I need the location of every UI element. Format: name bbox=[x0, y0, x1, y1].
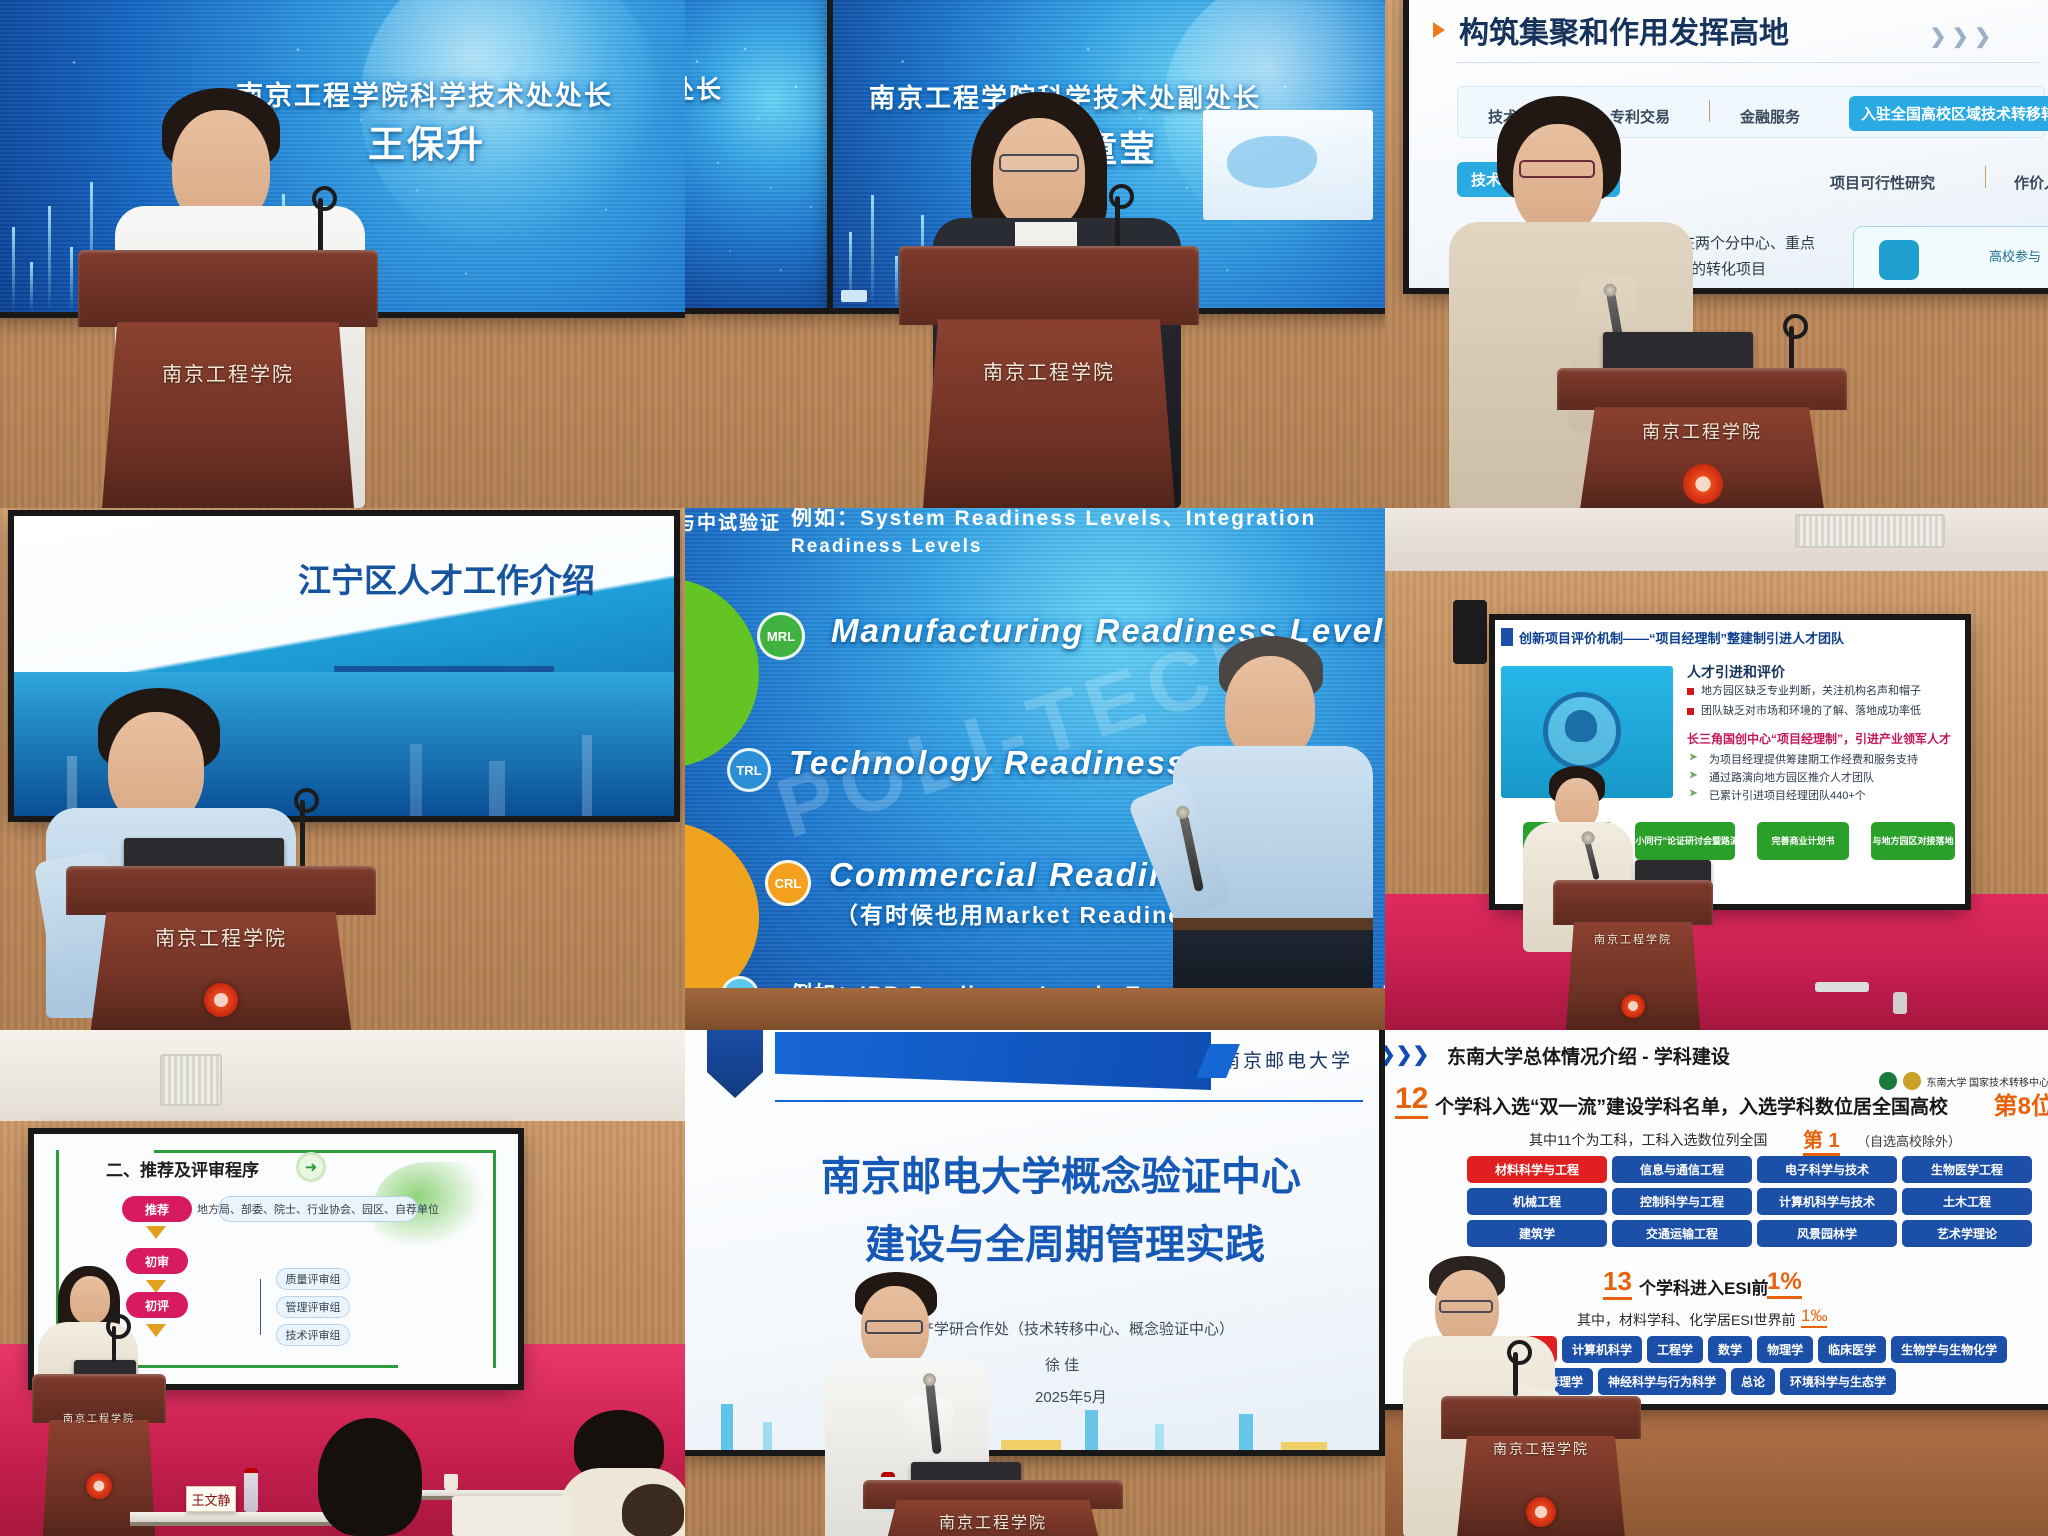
photo-panel-project-manager-system: 创新项目评价机制——“项目经理制”整建制引进人才团队 人才引进和评价 地方园区缺… bbox=[1385, 508, 2048, 1030]
podium: 南京工程学院 bbox=[78, 250, 378, 508]
photo-panel-seu-discipline-building: ❯❯❯ 东南大学总体情况介绍 - 学科建设 东南大学 国家技术转移中心 12 个… bbox=[1385, 1030, 2048, 1536]
ceiling bbox=[1385, 508, 2048, 571]
stat2-pct: 1% bbox=[1767, 1268, 1802, 1299]
slide-heading: 东南大学总体情况介绍 - 学科建设 bbox=[1447, 1042, 1730, 1069]
esi-chip: 环境科学与生态学 bbox=[1780, 1368, 1896, 1395]
photo-panel-slide-cluster-highland: 构筑集聚和作用发挥高地 ❯ ❯ ❯ 技术评价 专利交易 金融服务 入驻全国高校区… bbox=[1385, 0, 2048, 508]
slide-presenter: 徐 佳 bbox=[1045, 1354, 1079, 1375]
review-group-quality: 质量评审组 bbox=[276, 1268, 350, 1290]
discipline-chip: 电子科学与技术 bbox=[1757, 1156, 1897, 1183]
slide-redline: 长三角国创中心“项目经理制”，引进产业领军人才 bbox=[1687, 730, 1951, 747]
esi-chip: 计算机科学 bbox=[1562, 1336, 1642, 1363]
sub1-b: （自选高校除外） bbox=[1857, 1131, 1961, 1150]
stat2-text: 个学科进入ESI前 bbox=[1639, 1274, 1768, 1299]
heading-marker bbox=[1501, 628, 1513, 646]
discipline-chip: 风景园林学 bbox=[1757, 1220, 1897, 1247]
discipline-grid: 材料科学与工程 信息与通信工程 电子科学与技术 生物医学工程 机械工程 控制科学… bbox=[1467, 1156, 2032, 1247]
photo-panel-jiangning-talent-intro: 江宁区人才工作介绍 中共南京市江宁区委组织部 南京工程学院 bbox=[0, 508, 685, 1030]
stat2-number: 13 bbox=[1603, 1266, 1632, 1300]
photo-panel-review-procedure: 二、推荐及评审程序 ➜ 推荐 地方局、部委、院士、行业协会、园区、自荐单位 初审… bbox=[0, 1030, 685, 1536]
slide-heading: 构筑集聚和作用发挥高地 bbox=[1459, 8, 1789, 52]
podium-brand: 南京工程学院 bbox=[66, 922, 376, 951]
podium-body bbox=[923, 319, 1175, 508]
podium-brand: 南京工程学院 bbox=[863, 1509, 1123, 1533]
recommend-sources: 地方局、部委、院士、行业协会、园区、自荐单位 bbox=[218, 1196, 418, 1222]
review-group-technical: 技术评审组 bbox=[276, 1324, 350, 1346]
podium-brand: 南京工程学院 bbox=[78, 358, 378, 387]
name-card: 王文静 bbox=[186, 1486, 236, 1512]
slide-top-left-partial: 证与中试验证 bbox=[685, 508, 781, 535]
frame-line-top bbox=[154, 1150, 496, 1153]
slide-subhead: 人才引进和评价 bbox=[1687, 662, 1785, 682]
speaker-figure bbox=[1167, 636, 1385, 1030]
red-carpet bbox=[1385, 894, 2048, 1030]
head bbox=[1513, 124, 1603, 234]
discipline-chip: 计算机科学与技术 bbox=[1757, 1188, 1897, 1215]
arrow-bullet-2-icon: ➤ bbox=[1689, 770, 1697, 781]
review-group-management: 管理评审组 bbox=[276, 1296, 350, 1318]
esi-chip: 总论 bbox=[1731, 1368, 1775, 1395]
podium-seal bbox=[86, 1473, 112, 1499]
side-card-label: 高校参与 bbox=[1989, 246, 2041, 265]
org-logo-icon bbox=[1879, 1072, 1897, 1090]
glasses bbox=[1439, 1300, 1493, 1313]
badge-trl: TRL bbox=[727, 748, 771, 792]
podium-brand: 南京工程学院 bbox=[32, 1410, 166, 1425]
podium: 南京工程学院 bbox=[1553, 880, 1713, 1030]
esi-chip: 临床医学 bbox=[1818, 1336, 1886, 1363]
podium-brand: 南京工程学院 bbox=[1553, 931, 1713, 947]
tag-sep-3 bbox=[1985, 166, 1986, 188]
slide-bullet-2: 团队缺乏对市场和环境的了解、落地成功率低 bbox=[1701, 702, 1921, 718]
discipline-chip: 土木工程 bbox=[1902, 1188, 2032, 1215]
podium: 南京工程学院 bbox=[1441, 1396, 1641, 1536]
mic-stand bbox=[300, 800, 305, 874]
ac-vent bbox=[1795, 514, 1945, 548]
head bbox=[993, 118, 1085, 230]
audience-head bbox=[622, 1484, 684, 1536]
audience-person-3 bbox=[614, 1476, 685, 1536]
sub2-pct: 1‰ bbox=[1801, 1306, 1827, 1328]
particles-decor-left bbox=[685, 0, 829, 308]
discipline-chip: 艺术学理论 bbox=[1902, 1220, 2032, 1247]
arrow-bullet-3-icon: ➤ bbox=[1689, 788, 1697, 799]
podium-top bbox=[899, 246, 1199, 325]
slide-bullet-1: 地方园区缺乏专业判断，关注机构名声和帽子 bbox=[1701, 682, 1921, 698]
podium: 南京工程学院 bbox=[863, 1480, 1123, 1536]
ceiling bbox=[0, 1030, 685, 1121]
slide-title-line1: 南京邮电大学概念验证中心 bbox=[821, 1144, 1301, 1202]
bullet-marker-1 bbox=[1687, 688, 1694, 695]
floor-strip bbox=[685, 988, 1385, 1030]
belt bbox=[1173, 918, 1373, 930]
slide-heading: 二、推荐及评审程序 bbox=[106, 1156, 259, 1181]
esi-chip: 数学 bbox=[1708, 1336, 1752, 1363]
discipline-chip: 交通运输工程 bbox=[1612, 1220, 1752, 1247]
ac-vent bbox=[160, 1054, 222, 1106]
university-shield-icon bbox=[707, 1030, 763, 1098]
tag-highlight-1: 入驻全国高校区域技术转移转化中心 bbox=[1849, 96, 2048, 131]
podium-top bbox=[1441, 1396, 1641, 1439]
arrow-down-icon-1 bbox=[146, 1226, 166, 1239]
podium-brand: 南京工程学院 bbox=[1441, 1439, 1641, 1459]
university-wordmark: 南京邮电大学 bbox=[1221, 1046, 1353, 1073]
chevron-right-icon: ❯ ❯ ❯ bbox=[1930, 24, 1991, 49]
notebook bbox=[452, 1496, 572, 1536]
podium-seal bbox=[1526, 1497, 1556, 1527]
esi-chip: 物理学 bbox=[1757, 1336, 1813, 1363]
arrow-down-icon-3 bbox=[146, 1324, 166, 1337]
esi-chip: 神经科学与行为科学 bbox=[1598, 1368, 1726, 1395]
flow-card-3: 完善商业计划书 bbox=[1757, 822, 1849, 860]
stat1-number: 12 bbox=[1395, 1082, 1428, 1119]
slide-example-top: 例如：System Readiness Levels、Integration bbox=[791, 508, 1316, 532]
org-logo-icon-2 bbox=[1903, 1072, 1921, 1090]
podium-top bbox=[66, 866, 376, 915]
podium-top bbox=[1553, 880, 1713, 925]
divider bbox=[1457, 62, 2039, 63]
slide-title-line2: 建设与全周期管理实践 bbox=[865, 1212, 1265, 1270]
arrow-circle-icon: ➜ bbox=[296, 1152, 326, 1182]
stat1-rank: 第8位 bbox=[1994, 1086, 2048, 1121]
flow-card-2: “小同行”论证研讨会暨路演 bbox=[1635, 822, 1735, 860]
podium-brand: 南京工程学院 bbox=[899, 356, 1199, 385]
header-banner bbox=[775, 1032, 1211, 1090]
presentation-screen: 南京邮电大学 南京邮电大学概念验证中心 建设与全周期管理实践 产学研合作处（技术… bbox=[685, 1030, 1379, 1450]
sub1-a: 其中11个为工科，工科入选数位列全国 bbox=[1529, 1130, 1768, 1150]
photo-panel-speaker-tong-ying: 术处处长 南京工程学院科学技术处副处长 童莹 bbox=[685, 0, 1385, 508]
photo-panel-readiness-levels: POLI-TECH 证与中试验证 例如：System Readiness Lev… bbox=[685, 508, 1385, 1030]
esi-chip: 工程学 bbox=[1647, 1336, 1703, 1363]
podium-top bbox=[78, 250, 378, 327]
floor-object bbox=[1893, 992, 1907, 1014]
bracket-line bbox=[260, 1279, 261, 1335]
podium-seal bbox=[204, 983, 238, 1017]
discipline-chip: 机械工程 bbox=[1467, 1188, 1607, 1215]
slide-heading: 创新项目评价机制——“项目经理制”整建制引进人才团队 bbox=[1519, 628, 1844, 647]
banner-underline bbox=[775, 1100, 1363, 1102]
sub1-rank: 第 1 bbox=[1803, 1124, 1840, 1156]
wall-speaker bbox=[1453, 600, 1487, 664]
podium-seal bbox=[1683, 464, 1723, 504]
frame-line-right bbox=[493, 1150, 496, 1368]
flow-node-recommend: 推荐 bbox=[122, 1196, 192, 1222]
podium-top bbox=[1557, 368, 1847, 410]
podium: 南京工程学院 bbox=[66, 866, 376, 1030]
slide-arrow-3: 已累计引进项目经理团队440+个 bbox=[1709, 787, 1866, 803]
chevron-right-icon: ❯❯❯ bbox=[1385, 1042, 1429, 1067]
photo-panel-njupt-proof-of-concept: 南京邮电大学 南京邮电大学概念验证中心 建设与全周期管理实践 产学研合作处（技术… bbox=[685, 1030, 1385, 1536]
audience-person-1 bbox=[296, 1418, 446, 1536]
mic-stand bbox=[112, 1326, 116, 1362]
skyline-decor bbox=[685, 1378, 1379, 1450]
audience-head bbox=[318, 1418, 422, 1536]
slide-example-top2: Readiness Levels bbox=[791, 536, 982, 558]
photo-collage: 南京工程学院科学技术处处长 王保升 南京工程学院 术处处长 bbox=[0, 0, 2048, 1536]
badge-mrl: MRL bbox=[757, 612, 805, 660]
arrow-bullet-1-icon: ➤ bbox=[1689, 752, 1697, 763]
discipline-chip: 建筑学 bbox=[1467, 1220, 1607, 1247]
slide-inset-map bbox=[1203, 110, 1373, 220]
slide-line-partial: 术处处长 bbox=[685, 70, 723, 106]
mic-stand bbox=[1513, 1352, 1518, 1396]
glasses bbox=[1519, 160, 1595, 178]
stat1-text: 个学科入选“双一流”建设学科名单，入选学科数位居全国高校 bbox=[1435, 1092, 1948, 1119]
tag-feasibility: 项目可行性研究 bbox=[1821, 168, 1944, 197]
flow-card-4: 与地方园区对接落地 bbox=[1871, 822, 1955, 860]
tag-equity: 作价入股 bbox=[2005, 168, 2048, 197]
sub2-text: 其中，材料学科、化学居ESI世界前 bbox=[1577, 1310, 1796, 1330]
discipline-chip: 生物医学工程 bbox=[1902, 1156, 2032, 1183]
glasses bbox=[999, 154, 1079, 172]
podium-body bbox=[102, 322, 354, 508]
bullet-marker-2 bbox=[1687, 708, 1694, 715]
podium-brand: 南京工程学院 bbox=[1557, 418, 1847, 444]
water-bottle bbox=[244, 1468, 258, 1512]
glasses bbox=[865, 1320, 923, 1334]
podium: 南京工程学院 bbox=[899, 246, 1199, 508]
podium-seal bbox=[1621, 994, 1645, 1018]
arrow-icon bbox=[1433, 22, 1445, 38]
photo-panel-speaker-wang-baosheng: 南京工程学院科学技术处处长 王保升 南京工程学院 bbox=[0, 0, 685, 508]
badge-crl: CRL bbox=[765, 860, 811, 906]
floor-cable bbox=[1815, 982, 1869, 992]
slide-title: 江宁区人才工作介绍 bbox=[298, 554, 595, 602]
led-screen-left-edge: 术处处长 bbox=[685, 0, 829, 308]
discipline-chip: 材料科学与工程 bbox=[1467, 1156, 1607, 1183]
discipline-chip: 控制科学与工程 bbox=[1612, 1188, 1752, 1215]
head bbox=[70, 1276, 110, 1324]
slide-arrow-2: 通过路演向地方园区推介人才团队 bbox=[1709, 769, 1874, 785]
screen-label bbox=[841, 290, 867, 302]
slide-arrow-1: 为项目经理提供筹建期工作经费和服务支持 bbox=[1709, 751, 1918, 767]
esi-chip: 生物学与生物化学 bbox=[1891, 1336, 2007, 1363]
database-icon bbox=[1879, 240, 1919, 280]
paper-cup bbox=[444, 1474, 458, 1492]
discipline-chip: 信息与通信工程 bbox=[1612, 1156, 1752, 1183]
